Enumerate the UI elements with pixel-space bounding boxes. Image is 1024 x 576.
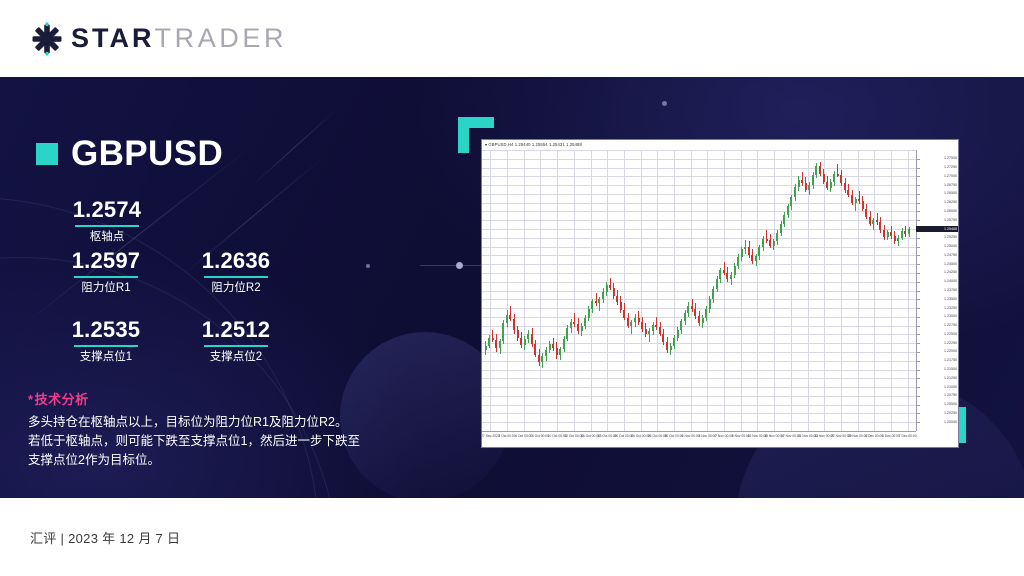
candle-body	[534, 344, 536, 355]
candle-wick	[492, 330, 493, 342]
chart-candle	[865, 150, 867, 431]
chart-candle	[862, 150, 864, 431]
candle-body	[712, 289, 714, 300]
chart-candle	[659, 150, 661, 431]
chart-candle	[712, 150, 714, 431]
chart-candle	[901, 150, 903, 431]
chart-candle	[545, 150, 547, 431]
pivot-point-block: 1.2574 枢轴点	[52, 197, 162, 244]
chart-candle	[737, 150, 739, 431]
chart-x-tick-label: 4 Oct 00:00	[515, 434, 532, 439]
chart-candle	[758, 150, 760, 431]
chart-candle	[840, 150, 842, 431]
candle-body	[798, 180, 800, 187]
chart-y-tick-label: 1.25750	[944, 218, 957, 223]
level-cell-r2: 1.2636 阻力位R2	[182, 248, 290, 295]
chart-candle	[894, 150, 896, 431]
chart-candle	[527, 150, 529, 431]
candle-body	[591, 301, 593, 309]
chart-y-tick-label: 1.22250	[944, 341, 957, 346]
candle-body	[517, 330, 519, 338]
chart-candle	[556, 150, 558, 431]
chart-x-tick-label: 7 Nov 00:00	[715, 434, 733, 439]
chart-y-tick-mark	[917, 326, 920, 327]
candle-body	[755, 256, 757, 261]
chart-y-tick-label: 1.24250	[944, 270, 957, 275]
chart-candle	[549, 150, 551, 431]
candle-body	[566, 328, 568, 339]
brand-name-secondary: TRADER	[155, 23, 288, 54]
level-cell-s2: 1.2512 支撑点位2	[182, 317, 290, 364]
candle-body	[741, 249, 743, 257]
chart-y-tick-label: 1.26500	[944, 191, 957, 196]
chart-candle	[691, 150, 693, 431]
candle-body	[634, 318, 636, 322]
candle-body	[758, 247, 760, 256]
chart-candle	[577, 150, 579, 431]
candle-body	[719, 270, 721, 278]
candle-body	[531, 334, 533, 344]
candle-wick	[766, 230, 767, 243]
candle-body	[815, 166, 817, 175]
chart-y-tick-label: 1.23000	[944, 314, 957, 319]
chart-y-tick-label: 1.27250	[944, 165, 957, 170]
candle-body	[638, 318, 640, 322]
chart-candle	[716, 150, 718, 431]
candle-body	[488, 338, 490, 346]
chart-candle	[563, 150, 565, 431]
brand-logo[interactable]: STAR TRADER	[30, 22, 287, 56]
chart-y-tick-mark	[917, 194, 920, 195]
chart-x-tick-label: 1 Nov 00:00	[682, 434, 700, 439]
chart-candle	[769, 150, 771, 431]
chart-y-tick-mark	[917, 422, 920, 423]
candle-body	[730, 275, 732, 279]
title-square-marker	[36, 143, 58, 165]
chart-candle	[552, 150, 554, 431]
candle-body	[485, 346, 487, 351]
chart-candle	[751, 150, 753, 431]
chart-candle	[541, 150, 543, 431]
candle-body	[602, 292, 604, 300]
candle-body	[908, 229, 910, 234]
chart-y-tick-mark	[917, 370, 920, 371]
chart-y-tick-mark	[917, 308, 920, 309]
chart-y-tick-label: 1.23250	[944, 306, 957, 311]
chart-candle	[726, 150, 728, 431]
analysis-line-2: 若低于枢轴点，则可能下跌至支撑点位1，然后进一步下跌至	[28, 432, 408, 451]
analysis-heading: *技术分析	[28, 389, 408, 408]
chart-candle	[645, 150, 647, 431]
candle-body	[766, 239, 768, 241]
chart-y-tick-mark	[917, 185, 920, 186]
chart-candle	[723, 150, 725, 431]
chart-y-tick-mark	[917, 299, 920, 300]
chart-candle	[492, 150, 494, 431]
candle-body	[698, 316, 700, 323]
candle-wick	[574, 313, 575, 326]
page-header: STAR TRADER	[0, 0, 1024, 77]
chart-x-tick-label: 5 Dec 00:00	[882, 434, 900, 439]
chart-y-tick-label: 1.20750	[944, 393, 957, 398]
footer-date-text: 汇评 | 2023 年 12 月 7 日	[30, 528, 180, 547]
chart-candle	[641, 150, 643, 431]
chart-candle	[887, 150, 889, 431]
candle-body	[524, 339, 526, 345]
chart-candle	[819, 150, 821, 431]
candle-body	[545, 350, 547, 356]
chart-candle	[844, 150, 846, 431]
candle-body	[559, 349, 561, 355]
candle-body	[830, 182, 832, 188]
chart-x-tick-label: 1 Dec 00:00	[865, 434, 883, 439]
chart-candle	[495, 150, 497, 431]
chart-y-tick-mark	[917, 255, 920, 256]
candle-body	[840, 175, 842, 184]
level-label-r1: 阻力位R1	[52, 281, 160, 295]
chart-candle	[602, 150, 604, 431]
candle-body	[869, 217, 871, 224]
candle-body	[879, 222, 881, 230]
chart-candle	[524, 150, 526, 431]
chart-y-tick-mark	[917, 168, 920, 169]
chart-candle	[655, 150, 657, 431]
candle-body	[552, 344, 554, 348]
chart-y-tick-label: 1.25250	[944, 235, 957, 240]
chart-candle	[531, 150, 533, 431]
chart-x-tick-label: 7 Dec 00:00	[899, 434, 917, 439]
candle-body	[702, 318, 704, 324]
chart-candle	[815, 150, 817, 431]
candle-wick	[510, 306, 511, 321]
candle-body	[652, 325, 654, 331]
chart-candle	[559, 150, 561, 431]
candle-body	[616, 296, 618, 302]
level-label-s2: 支撑点位2	[182, 350, 290, 364]
chart-candle	[766, 150, 768, 431]
analysis-asterisk: *	[28, 392, 34, 407]
chart-y-tick-label: 1.23500	[944, 297, 957, 302]
chart-candle	[812, 150, 814, 431]
candle-body	[588, 309, 590, 317]
candle-body	[723, 270, 725, 272]
candle-body	[506, 315, 508, 323]
chart-candle	[787, 150, 789, 431]
candle-body	[691, 306, 693, 309]
chart-candle	[566, 150, 568, 431]
chart-candle	[517, 150, 519, 431]
chart-y-tick-mark	[917, 343, 920, 344]
candle-body	[780, 224, 782, 233]
chart-candle	[808, 150, 810, 431]
candle-body	[826, 182, 828, 188]
chart-candle	[677, 150, 679, 431]
level-value-s1: 1.2535	[52, 317, 160, 343]
chart-y-tick-mark	[917, 334, 920, 335]
candle-body	[737, 257, 739, 266]
chart-y-tick-label: 1.21500	[944, 367, 957, 372]
chart-candle	[879, 150, 881, 431]
chart-candle	[698, 150, 700, 431]
candle-body	[851, 195, 853, 203]
chart-candle	[534, 150, 536, 431]
candle-body	[751, 255, 753, 261]
chart-candle	[627, 150, 629, 431]
candle-body	[573, 322, 575, 324]
candle-wick	[656, 317, 657, 330]
candle-body	[541, 356, 543, 362]
chart-y-tick-mark	[917, 247, 920, 248]
chart-candle	[502, 150, 504, 431]
candle-body	[673, 338, 675, 346]
levels-grid: 1.2597 阻力位R1 1.2636 阻力位R2 1.2535 支撑点位1	[52, 248, 312, 364]
chart-y-tick-label: 1.20250	[944, 411, 957, 416]
chart-candle	[606, 150, 608, 431]
candle-body	[499, 341, 501, 348]
candle-body	[606, 285, 608, 291]
chart-candle	[762, 150, 764, 431]
chart-candle	[570, 150, 572, 431]
chart-y-tick-mark	[917, 220, 920, 221]
chart-candle	[823, 150, 825, 431]
chart-y-tick-label: 1.26000	[944, 209, 957, 214]
candle-body	[670, 346, 672, 351]
candle-body	[858, 199, 860, 201]
candle-body	[641, 322, 643, 329]
chart-y-tick-label: 1.22750	[944, 323, 957, 328]
candle-body	[901, 231, 903, 238]
chart-y-tick-label: 1.20500	[944, 402, 957, 407]
candle-body	[794, 187, 796, 198]
level-label-s1: 支撑点位1	[52, 350, 160, 364]
candle-body	[513, 319, 515, 331]
chart-y-tick-mark	[917, 282, 920, 283]
chart-candle	[652, 150, 654, 431]
candle-body	[904, 231, 906, 235]
chart-y-tick-label: 1.20000	[944, 420, 957, 425]
candle-body	[705, 309, 707, 317]
chart-y-tick-label: 1.27000	[944, 174, 957, 179]
chart-candle	[670, 150, 672, 431]
chart-candle	[630, 150, 632, 431]
chart-y-tick-mark	[917, 361, 920, 362]
chart-y-tick-mark	[917, 238, 920, 239]
chart-candle	[904, 150, 906, 431]
chart-candle	[801, 150, 803, 431]
candle-body	[844, 183, 846, 190]
candle-body	[584, 318, 586, 326]
chart-y-tick-label: 1.21750	[944, 358, 957, 363]
level-underline-s2	[204, 345, 268, 347]
candle-body	[805, 183, 807, 189]
chart-candle	[499, 150, 501, 431]
candle-body	[620, 302, 622, 310]
chart-candle	[719, 150, 721, 431]
candle-wick	[596, 293, 597, 306]
main-stage: GBPUSD 1.2574 枢轴点 1.2597 阻力位R1 1.2636 阻力…	[0, 77, 1024, 498]
chart-candle	[506, 150, 508, 431]
chart-candle	[734, 150, 736, 431]
chart-y-tick-label: 1.23750	[944, 288, 957, 293]
candle-body	[897, 238, 899, 242]
chart-y-tick-label: 1.26750	[944, 183, 957, 188]
chart-candle	[709, 150, 711, 431]
chart-candle	[584, 150, 586, 431]
chart-y-tick-label: 1.25000	[944, 244, 957, 249]
chart-candle	[783, 150, 785, 431]
chart-candle	[755, 150, 757, 431]
candle-body	[598, 299, 600, 303]
chart-y-tick-label: 1.24750	[944, 253, 957, 258]
instrument-title-row: GBPUSD	[36, 134, 223, 174]
chart-y-tick-label: 1.24000	[944, 279, 957, 284]
candle-body	[648, 331, 650, 335]
chart-y-tick-mark	[917, 396, 920, 397]
chart-y-tick-label: 1.24500	[944, 262, 957, 267]
candle-body	[890, 232, 892, 236]
price-chart[interactable]: ▾ GBPUSD,H4 1.25440 1.25554 1.25431 1.25…	[481, 139, 959, 448]
candle-body	[666, 342, 668, 350]
chart-candle	[520, 150, 522, 431]
resistance-row: 1.2597 阻力位R1 1.2636 阻力位R2	[52, 248, 312, 295]
candle-body	[677, 330, 679, 338]
chart-candle	[673, 150, 675, 431]
chart-y-tick-mark	[917, 176, 920, 177]
chart-zone: ▾ GBPUSD,H4 1.25440 1.25554 1.25431 1.25…	[440, 77, 1024, 498]
chart-candle	[773, 150, 775, 431]
chart-candle	[634, 150, 636, 431]
chart-candle	[890, 150, 892, 431]
chart-candle	[908, 150, 910, 431]
chart-x-tick-label: 3 Nov 00:00	[698, 434, 716, 439]
candle-body	[577, 324, 579, 331]
chart-candle	[858, 150, 860, 431]
chart-candle	[485, 150, 487, 431]
pivot-value: 1.2574	[52, 197, 162, 223]
candle-body	[833, 174, 835, 182]
chart-y-axis: 1.275001.272501.270001.267501.265001.262…	[916, 150, 958, 431]
chart-cursor-icon: ▾	[485, 142, 487, 147]
chart-candle	[609, 150, 611, 431]
chart-y-tick-label: 1.26250	[944, 200, 957, 205]
analysis-block: *技术分析 多头持仓在枢轴点以上，目标位为阻力位R1及阻力位R2。 若低于枢轴点…	[28, 389, 408, 470]
chart-y-tick-mark	[917, 387, 920, 388]
candle-body	[744, 247, 746, 250]
candle-body	[627, 318, 629, 326]
candle-wick	[859, 191, 860, 204]
candle-body	[563, 339, 565, 350]
candle-body	[492, 338, 494, 340]
chart-candle	[488, 150, 490, 431]
candle-body	[709, 299, 711, 309]
candle-body	[865, 209, 867, 217]
chart-y-tick-mark	[917, 405, 920, 406]
chart-candle	[513, 150, 515, 431]
chart-y-tick-mark	[917, 291, 920, 292]
candle-body	[549, 344, 551, 351]
chart-plot-area[interactable]	[482, 150, 916, 431]
chart-current-price-tag: 1.25488	[916, 226, 958, 232]
chart-y-tick-mark	[917, 211, 920, 212]
candle-body	[823, 174, 825, 182]
candle-body	[883, 230, 885, 237]
chart-candle	[680, 150, 682, 431]
candle-body	[808, 185, 810, 190]
candle-body	[812, 175, 814, 185]
chart-candle	[648, 150, 650, 431]
chart-y-tick-label: 1.21000	[944, 385, 957, 390]
candle-body	[783, 215, 785, 224]
chart-candle	[687, 150, 689, 431]
chart-x-axis: 27 Sep 20232 Oct 00:004 Oct 00:006 Oct 0…	[482, 431, 916, 447]
chart-candle	[833, 150, 835, 431]
chart-y-tick-label: 1.22000	[944, 349, 957, 354]
instrument-panel: GBPUSD 1.2574 枢轴点 1.2597 阻力位R1 1.2636 阻力…	[0, 77, 440, 498]
chart-candle	[798, 150, 800, 431]
candle-body	[609, 285, 611, 288]
chart-y-tick-mark	[917, 317, 920, 318]
chart-candle	[883, 150, 885, 431]
chart-candle	[790, 150, 792, 431]
level-underline-r2	[204, 276, 268, 278]
candle-body	[837, 174, 839, 176]
chart-candle	[872, 150, 874, 431]
candle-body	[613, 288, 615, 296]
chart-candle	[573, 150, 575, 431]
chart-candle	[588, 150, 590, 431]
chart-candle	[876, 150, 878, 431]
chart-candle	[638, 150, 640, 431]
chart-candle	[847, 150, 849, 431]
level-underline-s1	[74, 345, 138, 347]
chart-y-tick-mark	[917, 413, 920, 414]
chart-candle	[538, 150, 540, 431]
chart-x-tick-label: 27 Sep 2023	[481, 434, 500, 439]
candle-body	[801, 180, 803, 184]
chart-candle	[666, 150, 668, 431]
chart-y-tick-mark	[917, 352, 920, 353]
candle-wick	[692, 299, 693, 312]
candle-body	[581, 326, 583, 331]
chart-candle	[741, 150, 743, 431]
candle-body	[734, 266, 736, 275]
candle-body	[787, 206, 789, 215]
chart-candle	[730, 150, 732, 431]
chart-candle	[851, 150, 853, 431]
candle-body	[726, 273, 728, 279]
chart-candle	[581, 150, 583, 431]
chart-candle	[744, 150, 746, 431]
chart-x-tick-label: 6 Oct 00:00	[532, 434, 549, 439]
candle-wick	[724, 262, 725, 275]
chart-y-tick-mark	[917, 264, 920, 265]
chart-candle	[855, 150, 857, 431]
chart-candle	[620, 150, 622, 431]
level-value-s2: 1.2512	[182, 317, 290, 343]
chart-candle	[598, 150, 600, 431]
page-title: GBPUSD	[71, 134, 223, 174]
support-row: 1.2535 支撑点位1 1.2512 支撑点位2	[52, 317, 312, 364]
candle-body	[570, 322, 572, 328]
level-underline-r1	[74, 276, 138, 278]
candle-body	[520, 338, 522, 345]
candle-body	[769, 240, 771, 246]
chart-y-tick-mark	[917, 159, 920, 160]
candle-body	[748, 247, 750, 255]
chart-y-tick-mark	[917, 203, 920, 204]
chart-title-text: GBPUSD,H4 1.25440 1.25554 1.25431 1.2548…	[488, 142, 582, 147]
candle-body	[862, 201, 864, 209]
